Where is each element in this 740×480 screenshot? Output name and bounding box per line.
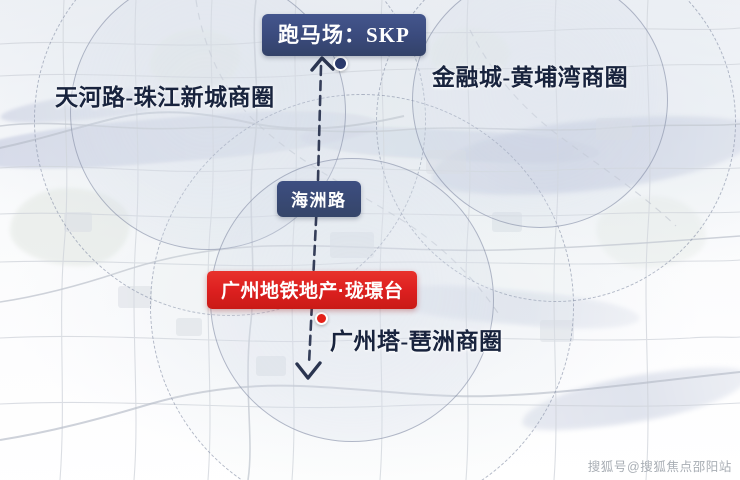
tag-project-name-label: 广州地铁地产·珑璟台: [221, 276, 403, 303]
tag-haizhou-road[interactable]: 海洲路: [277, 181, 361, 217]
tag-paomachang-label: 跑马场：SKP: [278, 19, 410, 49]
tag-project-name[interactable]: 广州地铁地产·珑璟台: [207, 271, 417, 309]
district-label-guangzhouta: 广州塔-琶洲商圈: [330, 322, 503, 356]
project-site-marker[interactable]: [315, 312, 328, 325]
map-screenshot: 跑马场：SKP 海洲路 广州地铁地产·珑璟台 天河路-珠江新城商圈 金融城-黄埔…: [0, 0, 740, 480]
skp-poi-marker[interactable]: [333, 56, 348, 71]
district-label-jinrongcheng: 金融城-黄埔湾商圈: [432, 58, 628, 92]
district-label-tianhe: 天河路-珠江新城商圈: [55, 78, 275, 112]
watermark-text: 搜狐号@搜狐焦点邵阳站: [588, 456, 732, 475]
tag-haizhou-road-label: 海洲路: [291, 186, 347, 211]
watermark: 搜狐号@搜狐焦点邵阳站: [588, 455, 732, 474]
tag-paomachang-skp[interactable]: 跑马场：SKP: [262, 14, 426, 56]
